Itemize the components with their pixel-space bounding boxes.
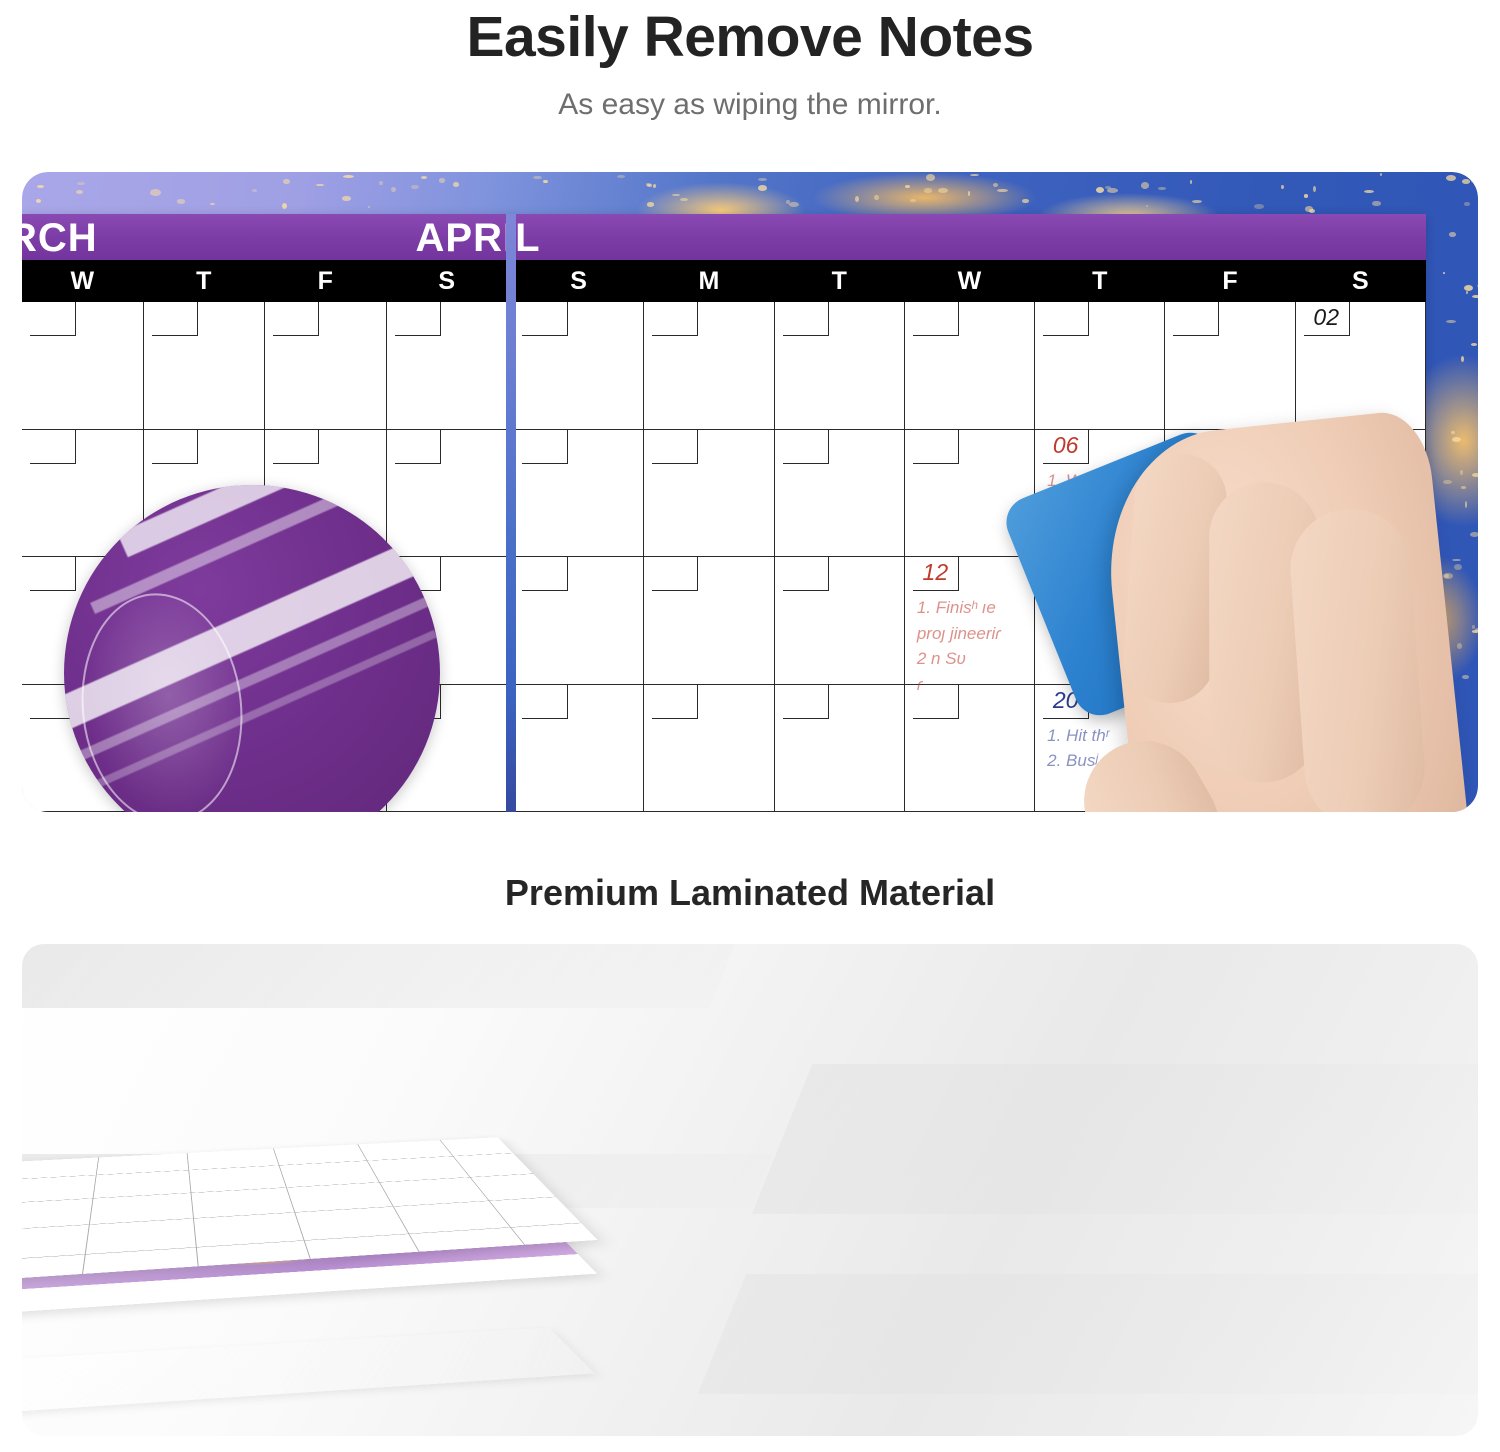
day-cell[interactable] (387, 430, 509, 558)
day-number-box (913, 685, 959, 719)
weekday-april-5: F (1165, 260, 1295, 302)
day-number-box (652, 302, 698, 336)
day-cell[interactable] (775, 685, 905, 813)
marble-fleck (411, 185, 419, 189)
weekday-header-march: WTFS (22, 260, 508, 302)
calendar-photo-panel: RCH APRIL WTFS SMTWTFS 261. Read "T Man … (22, 172, 1478, 812)
day-cell[interactable] (775, 302, 905, 430)
day-cell[interactable]: 02 (1296, 302, 1426, 430)
marble-fleck (282, 203, 287, 209)
marble-fleck (77, 182, 85, 185)
day-number-box: 06 (1043, 430, 1089, 464)
marble-fleck (1461, 486, 1466, 489)
marble-fleck (993, 183, 999, 188)
marble-fleck (1470, 532, 1478, 537)
marble-fleck (1462, 675, 1469, 679)
day-number-box (913, 302, 959, 336)
weekday-april-3: W (905, 260, 1035, 302)
marble-fleck (1141, 182, 1149, 189)
day-number-box (783, 430, 829, 464)
pet-film-back-layer (22, 1327, 595, 1416)
marble-fleck (1462, 179, 1470, 184)
marble-fleck (997, 189, 1008, 193)
marble-fleck (910, 199, 916, 201)
day-cell[interactable] (644, 685, 774, 813)
marble-fleck (647, 202, 655, 206)
calendar-spine (506, 214, 516, 812)
day-cell[interactable] (514, 430, 644, 558)
marble-fleck (453, 182, 459, 188)
marble-fleck (1451, 431, 1455, 434)
weekday-april-2: T (775, 260, 905, 302)
weekday-april-6: S (1296, 260, 1426, 302)
marble-fleck (1472, 630, 1478, 632)
day-number-box (152, 302, 198, 336)
marble-fleck (1190, 180, 1192, 184)
day-cell[interactable] (644, 557, 774, 685)
marble-fleck (1449, 232, 1456, 237)
day-cell[interactable] (1165, 302, 1295, 430)
marble-fleck (874, 195, 878, 200)
marble-fleck (1281, 185, 1284, 189)
day-cell[interactable] (775, 557, 905, 685)
day-cell[interactable] (265, 302, 387, 430)
day-cell[interactable] (514, 557, 644, 685)
marble-fleck (924, 188, 933, 193)
marble-fleck (1192, 200, 1203, 203)
day-number-box (273, 430, 319, 464)
weekday-april-0: S (514, 260, 644, 302)
page-subtitle: As easy as wiping the mirror. (0, 88, 1500, 122)
day-cell[interactable] (514, 685, 644, 813)
section-title-laminate: Premium Laminated Material (0, 872, 1500, 914)
marble-fleck (1454, 564, 1462, 570)
day-cell[interactable] (905, 685, 1035, 813)
handwritten-note: 1. Finisʰ ıe proȷ jineeriɾ 2 n Sᴜ ɾ (917, 595, 1030, 697)
marble-fleck (439, 178, 445, 183)
day-number-box (395, 430, 441, 464)
marble-fleck (1465, 501, 1467, 508)
product-feature-page: Easily Remove Notes As easy as wiping th… (0, 0, 1500, 1452)
day-number-box (30, 302, 76, 336)
marble-fleck (1446, 320, 1456, 323)
day-number-box (522, 557, 568, 591)
marble-fleck (926, 174, 935, 181)
marble-fleck (680, 198, 687, 201)
marble-fleck (316, 184, 323, 186)
marble-fleck (970, 174, 979, 176)
marble-fleck (758, 178, 767, 181)
weekday-header-april: SMTWTFS (514, 260, 1426, 302)
weekday-march-3: S (387, 260, 509, 302)
weekday-march-1: T (144, 260, 266, 302)
day-number-box (395, 302, 441, 336)
day-cell[interactable] (905, 302, 1035, 430)
day-number-box (783, 685, 829, 719)
laminate-layers-panel: TMS JA PET Film Provides resistance agai… (22, 944, 1478, 1436)
marble-fleck (1446, 175, 1457, 181)
marble-fleck (1472, 295, 1478, 298)
marble-fleck (1460, 470, 1463, 476)
marble-fleck (758, 185, 766, 191)
marble-fleck (1304, 194, 1308, 198)
day-number-box (1173, 302, 1219, 336)
day-number-box (652, 557, 698, 591)
marble-fleck (76, 190, 83, 194)
marble-fleck (653, 184, 656, 188)
marble-fleck (1443, 480, 1452, 485)
marble-fleck (1477, 285, 1478, 287)
marble-fleck (421, 176, 427, 179)
day-number-box (30, 557, 76, 591)
marble-fleck (938, 188, 948, 193)
marble-fleck (150, 189, 161, 196)
marble-fleck (1452, 559, 1461, 561)
marble-fleck (343, 175, 354, 178)
day-cell[interactable] (22, 302, 144, 430)
weekday-april-4: T (1035, 260, 1165, 302)
day-number-box (783, 302, 829, 336)
day-number-box (652, 685, 698, 719)
marble-fleck (672, 194, 680, 196)
marble-fleck (1096, 187, 1104, 193)
marble-fleck (36, 199, 41, 203)
day-cell[interactable]: 121. Finisʰ ıe proȷ jineeriɾ 2 n Sᴜ ɾ (905, 557, 1035, 685)
marble-fleck (1443, 272, 1445, 274)
day-number-box: 02 (1304, 302, 1350, 336)
marble-fleck (1461, 356, 1464, 362)
day-cell[interactable] (1035, 302, 1165, 430)
film-roll-edge (70, 585, 253, 812)
weekday-march-0: W (22, 260, 144, 302)
day-number-box (152, 430, 198, 464)
marble-fleck (543, 180, 548, 183)
marble-fleck (617, 175, 625, 178)
page-title: Easily Remove Notes (0, 4, 1500, 70)
day-cell[interactable] (644, 302, 774, 430)
weekday-april-1: M (644, 260, 774, 302)
day-number-box (273, 302, 319, 336)
marble-fleck (1254, 204, 1264, 209)
marble-fleck (968, 191, 971, 196)
marble-fleck (1158, 187, 1166, 190)
marble-fleck (789, 202, 799, 207)
marble-fleck (1471, 179, 1478, 183)
weekday-march-2: F (265, 260, 387, 302)
day-number-box (652, 430, 698, 464)
marble-fleck (252, 189, 257, 192)
marble-fleck (905, 185, 911, 188)
day-number-box (522, 430, 568, 464)
marble-fleck (1471, 343, 1478, 346)
marble-fleck (1466, 291, 1468, 294)
marble-fleck (1022, 199, 1028, 204)
marble-fleck (1364, 190, 1375, 194)
day-cell[interactable] (644, 430, 774, 558)
day-cell[interactable] (387, 302, 509, 430)
marble-fleck (1443, 573, 1452, 579)
day-cell[interactable] (144, 302, 266, 430)
marble-fleck (1464, 202, 1469, 206)
marble-fleck (1457, 643, 1462, 649)
marble-fleck (210, 203, 216, 205)
day-cell[interactable] (775, 430, 905, 558)
day-number-box: 12 (913, 557, 959, 591)
marble-fleck (1313, 186, 1316, 192)
marble-fleck (1464, 285, 1473, 291)
day-number-box (913, 430, 959, 464)
marble-fleck (855, 196, 859, 202)
marble-fleck (391, 187, 396, 192)
day-number-box (522, 302, 568, 336)
marble-fleck (1146, 205, 1148, 207)
marble-fleck (1105, 186, 1111, 189)
marble-fleck (177, 199, 186, 203)
day-number-box (30, 430, 76, 464)
marble-fleck (283, 179, 290, 183)
day-cell[interactable] (514, 302, 644, 430)
day-number-box (1043, 302, 1089, 336)
marble-fleck (1380, 173, 1383, 176)
marble-fleck (533, 176, 541, 180)
marble-fleck (342, 196, 351, 201)
marble-fleck (647, 184, 652, 187)
marble-fleck (1472, 473, 1478, 477)
marble-fleck (379, 181, 383, 185)
hand-holding-eraser (1097, 408, 1478, 812)
month-label-april: APRIL (22, 216, 934, 261)
marble-fleck (1372, 201, 1380, 207)
marble-fleck (1452, 437, 1461, 442)
marble-fleck (37, 185, 44, 188)
marble-fleck (368, 206, 371, 208)
day-number-box (522, 685, 568, 719)
day-number-box (783, 557, 829, 591)
